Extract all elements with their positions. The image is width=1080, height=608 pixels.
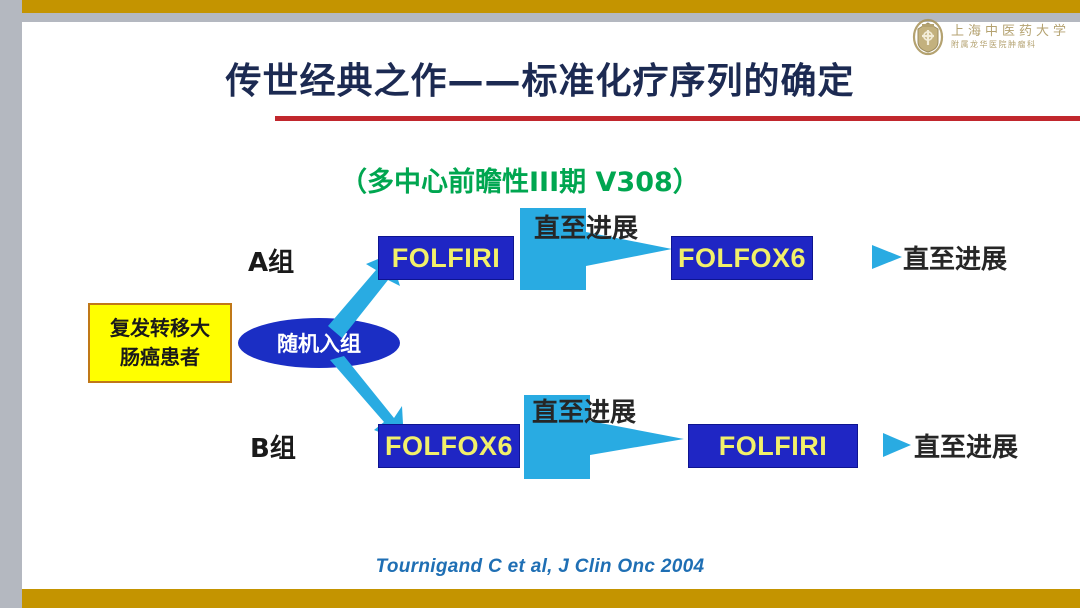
arm-a-end-label: 直至进展	[903, 239, 1007, 276]
reference-citation: Tournigand C et al, J Clin Onc 2004	[0, 556, 1080, 578]
arm-a-second-regimen-box: FOLFOX6	[671, 236, 813, 280]
arm-b-label: B组	[250, 428, 296, 465]
patient-population-text: 复发转移大 肠癌患者	[110, 314, 210, 372]
arm-b-progression-label: 直至进展	[532, 392, 636, 429]
logo-text-block: 上海中医药大学 附属龙华医院肿瘤科	[951, 25, 1070, 49]
arm-a-first-regimen-box: FOLFIRI	[378, 236, 514, 280]
arm-b-end-label: 直至进展	[914, 427, 1018, 464]
arm-a-progression-label: 直至进展	[534, 208, 638, 245]
shield-crest-icon	[911, 18, 945, 56]
logo-line-primary: 上海中医药大学	[951, 25, 1070, 38]
study-subtitle: （多中心前瞻性III期 V308）	[340, 160, 700, 199]
arm-b-end-triangle-icon	[883, 431, 911, 459]
institution-logo: 上海中医药大学 附属龙华医院肿瘤科	[911, 18, 1070, 56]
arm-a-label: A组	[248, 242, 294, 279]
title-underline-rule	[275, 116, 1080, 121]
logo-line-secondary: 附属龙华医院肿瘤科	[951, 41, 1070, 49]
page-title: 传世经典之作——标准化疗序列的确定	[0, 52, 1080, 104]
arm-b-second-regimen-box: FOLFIRI	[688, 424, 858, 468]
patient-population-box: 复发转移大 肠癌患者	[88, 303, 232, 383]
bottom-gold-band	[22, 589, 1080, 608]
arm-a-end-triangle-icon	[872, 243, 902, 271]
arm-b-first-regimen-box: FOLFOX6	[378, 424, 520, 468]
slide-canvas: 上海中医药大学 附属龙华医院肿瘤科 传世经典之作——标准化疗序列的确定 （多中心…	[0, 0, 1080, 608]
top-gold-band	[22, 0, 1080, 13]
